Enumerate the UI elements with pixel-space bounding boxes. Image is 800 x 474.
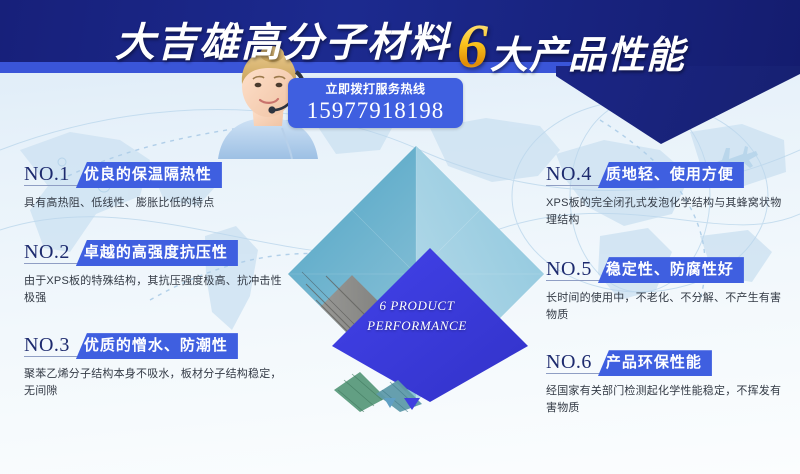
feature-item-1[interactable]: NO.1 优良的保温隔热性 具有高热阻、低线性、膨胀比低的特点 <box>24 162 286 212</box>
feature-4-description: XPS板的完全闭孔式发泡化学结构与其蜂窝状物理结构 <box>546 195 792 229</box>
feature-6-number: NO.6 <box>546 352 600 374</box>
hotline-badge[interactable]: 立即拨打服务热线 15977918198 <box>288 78 463 128</box>
feature-2-number: NO.2 <box>24 242 78 264</box>
performance-caption: 6 PRODUCT PERFORMANCE <box>352 296 482 335</box>
feature-item-4[interactable]: NO.4 质地轻、使用方便 XPS板的完全闭孔式发泡化学结构与其蜂窝状物理结构 <box>546 162 792 229</box>
hotline-number: 15977918198 <box>307 98 445 123</box>
feature-1-title: 优良的保温隔热性 <box>76 162 222 188</box>
title-number-six: 6 <box>457 16 488 78</box>
spacer <box>546 229 792 257</box>
feature-3-title: 优质的憎水、防潮性 <box>76 333 238 359</box>
feature-3-head: NO.3 优质的憎水、防潮性 <box>24 333 286 359</box>
hotline-label: 立即拨打服务热线 <box>325 83 425 95</box>
spacer <box>546 324 792 350</box>
feature-6-head: NO.6 产品环保性能 <box>546 350 792 376</box>
spacer <box>24 307 286 333</box>
feature-1-number: NO.1 <box>24 164 78 186</box>
feature-item-3[interactable]: NO.3 优质的憎水、防潮性 聚苯乙烯分子结构本身不吸水，板材分子结构稳定，无间… <box>24 333 286 400</box>
feature-item-6[interactable]: NO.6 产品环保性能 经国家有关部门检测起化学性能稳定，不挥发有害物质 <box>546 350 792 417</box>
feature-1-description: 具有高热阻、低线性、膨胀比低的特点 <box>24 195 286 212</box>
feature-3-number: NO.3 <box>24 335 78 357</box>
features-right-column: NO.4 质地轻、使用方便 XPS板的完全闭孔式发泡化学结构与其蜂窝状物理结构 … <box>546 162 792 417</box>
title-tail-text: 大产品性能 <box>490 24 685 79</box>
feature-3-description: 聚苯乙烯分子结构本身不吸水，板材分子结构稳定，无间隙 <box>24 366 286 400</box>
feature-item-2[interactable]: NO.2 卓越的高强度抗压性 由于XPS板的特殊结构，其抗压强度极高、抗冲击性极… <box>24 240 286 307</box>
feature-4-title: 质地轻、使用方便 <box>598 162 744 188</box>
feature-6-title: 产品环保性能 <box>598 350 712 376</box>
center-diamond-artwork <box>282 140 550 412</box>
title-main-text: 大吉雄高分子材料 <box>115 10 451 68</box>
feature-2-title: 卓越的高强度抗压性 <box>76 240 238 266</box>
feature-5-description: 长时间的使用中，不老化、不分解、不产生有害物质 <box>546 290 792 324</box>
feature-5-head: NO.5 稳定性、防腐性好 <box>546 257 792 283</box>
feature-5-number: NO.5 <box>546 259 600 281</box>
features-left-column: NO.1 优良的保温隔热性 具有高热阻、低线性、膨胀比低的特点 NO.2 卓越的… <box>24 162 286 400</box>
feature-item-5[interactable]: NO.5 稳定性、防腐性好 长时间的使用中，不老化、不分解、不产生有害物质 <box>546 257 792 324</box>
decorative-arrows <box>378 396 448 417</box>
feature-5-title: 稳定性、防腐性好 <box>598 257 744 283</box>
feature-1-head: NO.1 优良的保温隔热性 <box>24 162 286 188</box>
feature-2-head: NO.2 卓越的高强度抗压性 <box>24 240 286 266</box>
promo-banner: 大吉雄高分子材料 6 大产品性能 <box>0 0 800 474</box>
spacer <box>24 212 286 240</box>
feature-2-description: 由于XPS板的特殊结构，其抗压强度极高、抗冲击性极强 <box>24 273 286 307</box>
feature-4-head: NO.4 质地轻、使用方便 <box>546 162 792 188</box>
feature-4-number: NO.4 <box>546 164 600 186</box>
feature-6-description: 经国家有关部门检测起化学性能稳定，不挥发有害物质 <box>546 383 792 417</box>
page-title: 大吉雄高分子材料 6 大产品性能 <box>0 0 800 78</box>
